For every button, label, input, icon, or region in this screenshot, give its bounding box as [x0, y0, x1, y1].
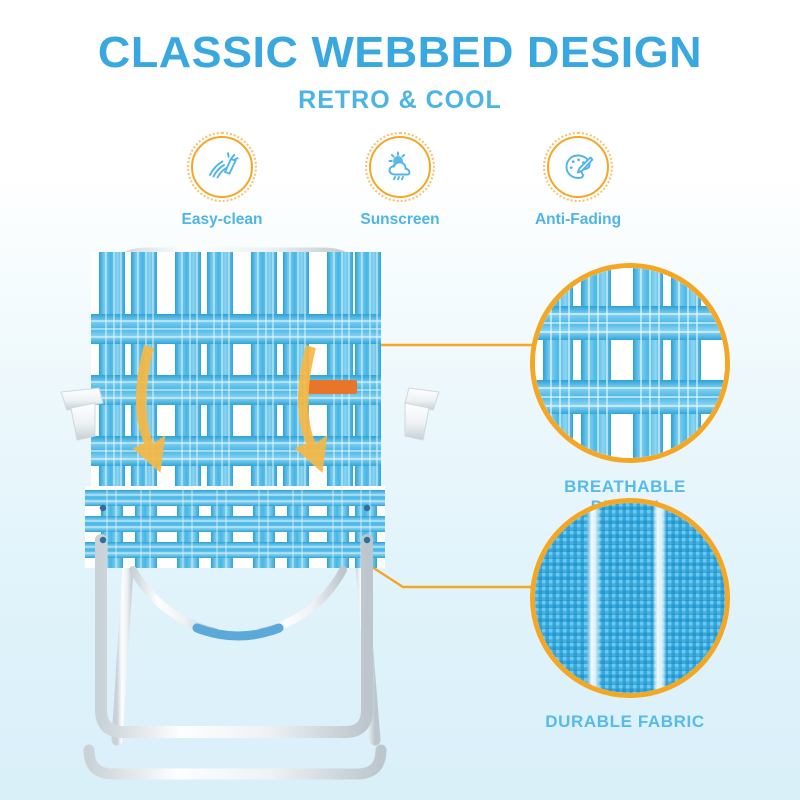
chair-armrest-right — [405, 388, 439, 440]
paint-palette-icon — [561, 150, 595, 184]
seat-horizontal-straps — [85, 490, 385, 558]
webbing-plaid-closeup — [535, 268, 725, 458]
feature-badge-anti-fading: Anti-Fading — [523, 136, 633, 229]
feature-badge-row: Easy-clean — [0, 136, 800, 229]
callout-label-durable: DURABLE FABRIC — [530, 712, 720, 732]
feature-label-easy-clean: Easy-clean — [182, 211, 263, 229]
sun-cloud-icon — [383, 150, 417, 184]
brand-tag — [307, 380, 357, 394]
feature-ring-anti-fading — [547, 136, 609, 198]
feature-ring-sunscreen — [369, 136, 431, 198]
spray-clean-icon — [205, 150, 239, 184]
chair-cross-brace — [133, 570, 343, 636]
feature-badge-sunscreen: Sunscreen — [345, 136, 455, 229]
feature-label-sunscreen: Sunscreen — [360, 211, 439, 229]
product-image-chair — [55, 240, 445, 785]
feature-label-anti-fading: Anti-Fading — [535, 211, 621, 229]
callout-circle-durable — [530, 498, 730, 698]
callout-circle-breathable — [530, 263, 730, 463]
chair-seat-webbing — [85, 486, 385, 568]
callout-breathable-design: BREATHABLE DESIGN — [530, 263, 730, 517]
infographic-canvas: CLASSIC WEBBED DESIGN RETRO & COOL — [0, 0, 800, 800]
callout-durable-fabric: DURABLE FABRIC — [530, 498, 730, 732]
header: CLASSIC WEBBED DESIGN RETRO & COOL — [0, 0, 800, 115]
feature-ring-easy-clean — [191, 136, 253, 198]
fabric-weave-macro — [535, 503, 725, 693]
feature-badge-easy-clean: Easy-clean — [167, 136, 277, 229]
page-subtitle: RETRO & COOL — [0, 86, 800, 115]
chair-back-webbing — [91, 252, 381, 500]
chair-blue-crossbar — [197, 628, 279, 636]
page-title: CLASSIC WEBBED DESIGN — [0, 30, 800, 76]
